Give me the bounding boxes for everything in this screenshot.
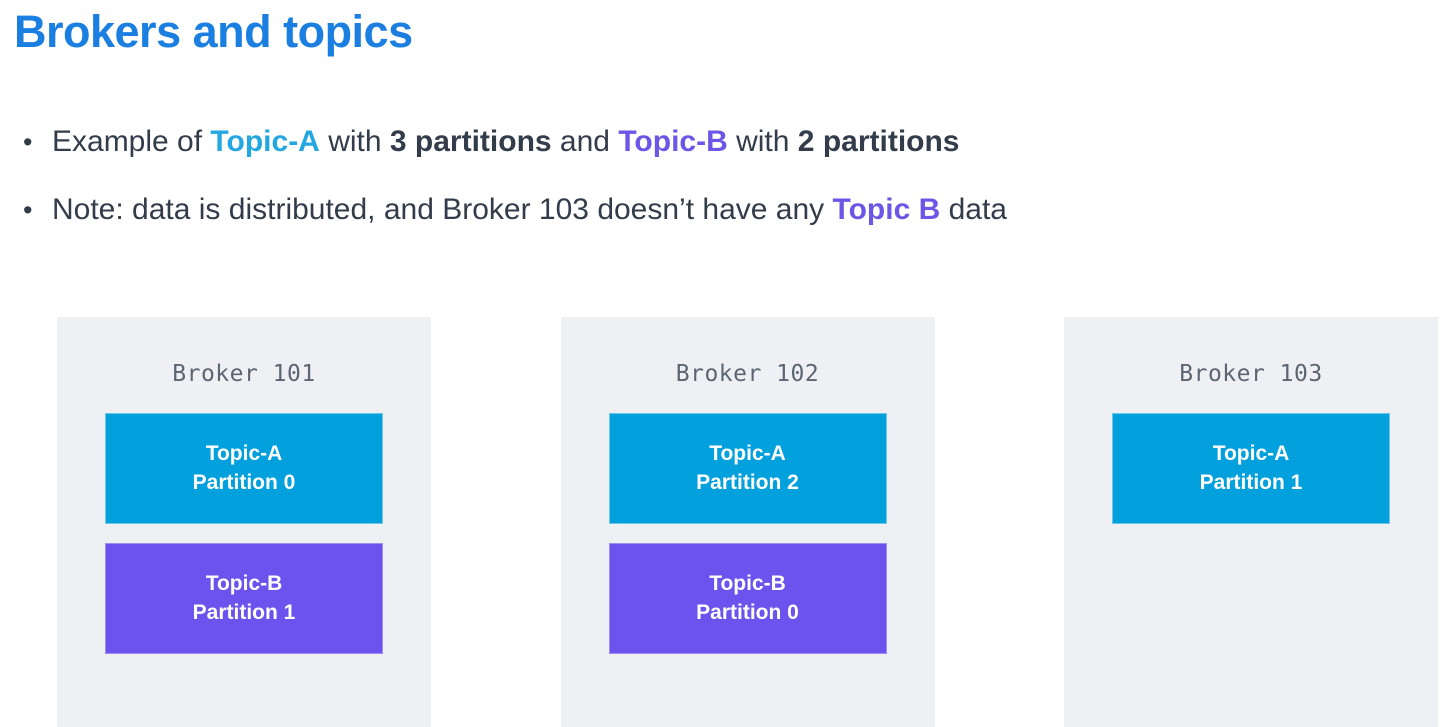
- broker-panel: Broker 102Topic-APartition 2Topic-BParti…: [561, 317, 935, 727]
- slide-root: Brokers and topics •Example of Topic-A w…: [0, 0, 1449, 727]
- partition-index-label: Partition 0: [193, 469, 296, 498]
- bullet-text: Note: data is distributed, and Broker 10…: [52, 190, 1418, 230]
- bullet-segment: 2 partitions: [798, 125, 960, 158]
- bullet-item: •Note: data is distributed, and Broker 1…: [18, 190, 1418, 230]
- partition-box: Topic-APartition 2: [609, 413, 887, 524]
- bullet-segment: with: [728, 125, 798, 158]
- partition-box: Topic-BPartition 0: [609, 543, 887, 654]
- partition-index-label: Partition 1: [193, 599, 296, 628]
- partition-list: Topic-APartition 2Topic-BPartition 0: [561, 413, 935, 654]
- bullet-segment: Topic B: [832, 193, 940, 226]
- broker-panel: Broker 103Topic-APartition 1: [1064, 317, 1438, 727]
- bullet-segment: Topic-A: [210, 125, 319, 158]
- bullet-list: •Example of Topic-A with 3 partitions an…: [18, 122, 1418, 258]
- partition-topic-label: Topic-A: [1213, 440, 1290, 469]
- bullet-dot-icon: •: [18, 190, 52, 230]
- broker-label: Broker 103: [1064, 317, 1438, 386]
- bullet-segment: Topic-B: [618, 125, 727, 158]
- partition-list: Topic-APartition 1: [1064, 413, 1438, 524]
- bullet-segment: 3 partitions: [390, 125, 552, 158]
- bullet-segment: Note: data is distributed, and Broker 10…: [52, 193, 832, 226]
- partition-index-label: Partition 0: [696, 599, 799, 628]
- bullet-segment: Example of: [52, 125, 210, 158]
- broker-cluster: Broker 101Topic-APartition 0Topic-BParti…: [57, 317, 1438, 727]
- partition-box: Topic-APartition 1: [1112, 413, 1390, 524]
- broker-label: Broker 101: [57, 317, 431, 386]
- partition-topic-label: Topic-A: [206, 440, 283, 469]
- bullet-text: Example of Topic-A with 3 partitions and…: [52, 122, 1418, 162]
- bullet-segment: and: [552, 125, 619, 158]
- broker-panel: Broker 101Topic-APartition 0Topic-BParti…: [57, 317, 431, 727]
- partition-list: Topic-APartition 0Topic-BPartition 1: [57, 413, 431, 654]
- bullet-dot-icon: •: [18, 122, 52, 162]
- partition-topic-label: Topic-A: [709, 440, 786, 469]
- bullet-segment: with: [320, 125, 390, 158]
- partition-box: Topic-APartition 0: [105, 413, 383, 524]
- page-title: Brokers and topics: [14, 4, 413, 60]
- bullet-segment: data: [940, 193, 1007, 226]
- partition-topic-label: Topic-B: [206, 570, 283, 599]
- partition-topic-label: Topic-B: [709, 570, 786, 599]
- partition-box: Topic-BPartition 1: [105, 543, 383, 654]
- bullet-item: •Example of Topic-A with 3 partitions an…: [18, 122, 1418, 162]
- partition-index-label: Partition 2: [696, 469, 799, 498]
- partition-index-label: Partition 1: [1200, 469, 1303, 498]
- broker-label: Broker 102: [561, 317, 935, 386]
